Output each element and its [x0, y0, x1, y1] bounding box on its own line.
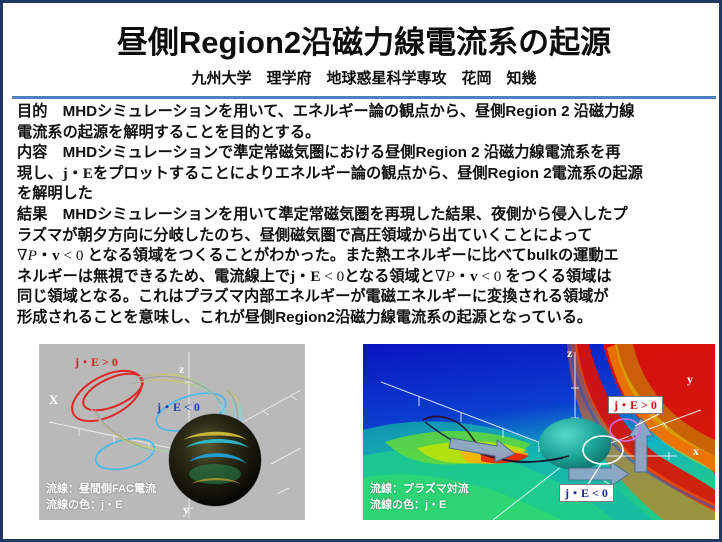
body-text-run: j・E [290, 268, 320, 285]
body-line: 目的 MHDシミュレーションを用いて、エネルギー論の観点から、昼側Region … [17, 102, 713, 123]
body-text-run: ・ [37, 247, 52, 264]
body-line: ネルギーは無視できるため、電流線上でj・E < 0となる領域と∇P・v < 0 … [17, 267, 713, 288]
body-text-run: ∇P [435, 268, 455, 285]
body-text-run: を解明した [17, 185, 93, 202]
axis-x-label-right: x [693, 444, 699, 459]
body-text-run: 目的 MHDシミュレーションを用いて、エネルギー論の観点から、昼側Region … [17, 103, 635, 120]
body-text: 目的 MHDシミュレーションを用いて、エネルギー論の観点から、昼側Region … [17, 102, 713, 329]
body-line: 同じ領域となる。これはプラズマ内部エネルギーが電磁エネルギーに変換される領域が [17, 287, 713, 308]
body-text-run: 内容 MHDシミュレーションで準定常磁気圏における昼側Region 2 沿磁力線… [17, 144, 621, 161]
body-text-run: 現し、 [17, 165, 63, 182]
axis-x-label-left: X [49, 392, 58, 408]
body-text-run: 形成されることを意味し、これが昼側Region2沿磁力線電流系の起源となっている… [17, 309, 592, 326]
body-text-run: となる領域をつくることがわかった。また熱エネルギーに比べてbulkの運動エ [83, 247, 618, 264]
body-line: 形成されることを意味し、これが昼側Region2沿磁力線電流系の起源となっている… [17, 308, 713, 329]
axis-y-label-right: y [687, 372, 693, 387]
body-text-run: ネルギーは無視できるため、電流線上で [17, 268, 290, 285]
body-text-run: v [470, 268, 478, 285]
jdote-positive-label-left: j・E > 0 [75, 353, 118, 370]
axis-z-label-right: z [567, 346, 572, 361]
body-text-run: となる領域と [344, 268, 435, 285]
body-text-run: をつくる領域は [501, 268, 611, 285]
figure-left-caption-line1: 流線：昼間側FAC電流 [46, 482, 156, 497]
body-line: 結果 MHDシミュレーションを用いて準定常磁気圏を再現した結果、夜側から侵入した… [17, 205, 713, 226]
body-text-run: ラズマが朝夕方向に分岐したのち、昼側磁気圏で高圧領域から出ていくことによって [17, 227, 593, 244]
body-text-run: 同じ領域となる。これはプラズマ内部エネルギーが電磁エネルギーに変換される領域が [17, 288, 609, 305]
body-text-run: < 0 [320, 268, 344, 285]
jdote-negative-label-left: j・E < 0 [157, 398, 200, 415]
slide-subtitle: 九州大学 理学府 地球惑星科学専攻 花岡 知幾 [3, 69, 722, 89]
body-text-run: < 0 [60, 247, 84, 264]
body-line: 内容 MHDシミュレーションで準定常磁気圏における昼側Region 2 沿磁力線… [17, 143, 713, 164]
figure-left-caption-line2: 流線の色：j・E [46, 498, 122, 513]
body-text-run: ∇P [17, 247, 37, 264]
body-text-run: をプロットすることによりエネルギー論の観点から、昼側Region 2電流系の起源 [93, 165, 643, 182]
jdote-negative-label-right: j・E < 0 [559, 484, 614, 502]
body-text-run: v [52, 247, 60, 264]
figure-plasma-convection: j・E > 0 j・E < 0 z y x 流線：プラズマ対流 流線の色：j・E [363, 344, 715, 520]
body-line: ∇P・v < 0 となる領域をつくることがわかった。また熱エネルギーに比べてbu… [17, 246, 713, 267]
jdote-positive-label-right: j・E > 0 [608, 396, 663, 414]
axis-y-label-left: y [183, 502, 190, 518]
body-line: 現し、j・Eをプロットすることによりエネルギー論の観点から、昼側Region 2… [17, 164, 713, 185]
page-title: 昼側Region2沿磁力線電流系の起源 [3, 25, 722, 61]
body-line: を解明した [17, 184, 713, 205]
body-text-run: ・ [455, 268, 470, 285]
figure-fac-current: j・E > 0 j・E < 0 X z y 流線：昼間側FAC電流 流線の色：j… [39, 344, 305, 520]
figure-right-caption-line2: 流線の色：j・E [370, 498, 446, 513]
title-divider [12, 96, 716, 99]
axis-z-label-left: z [179, 362, 184, 377]
body-line: 電流系の起源を解明することを目的とする。 [17, 123, 713, 144]
figure-right-caption-line1: 流線：プラズマ対流 [370, 482, 469, 497]
body-text-run: 結果 MHDシミュレーションを用いて準定常磁気圏を再現した結果、夜側から侵入した… [17, 206, 628, 223]
body-text-run: < 0 [478, 268, 502, 285]
body-text-run: j・E [63, 165, 93, 182]
body-line: ラズマが朝夕方向に分岐したのち、昼側磁気圏で高圧領域から出ていくことによって [17, 226, 713, 247]
body-text-run: 電流系の起源を解明することを目的とする。 [17, 124, 320, 141]
slide-canvas: 昼側Region2沿磁力線電流系の起源 九州大学 理学府 地球惑星科学専攻 花岡… [0, 0, 722, 542]
